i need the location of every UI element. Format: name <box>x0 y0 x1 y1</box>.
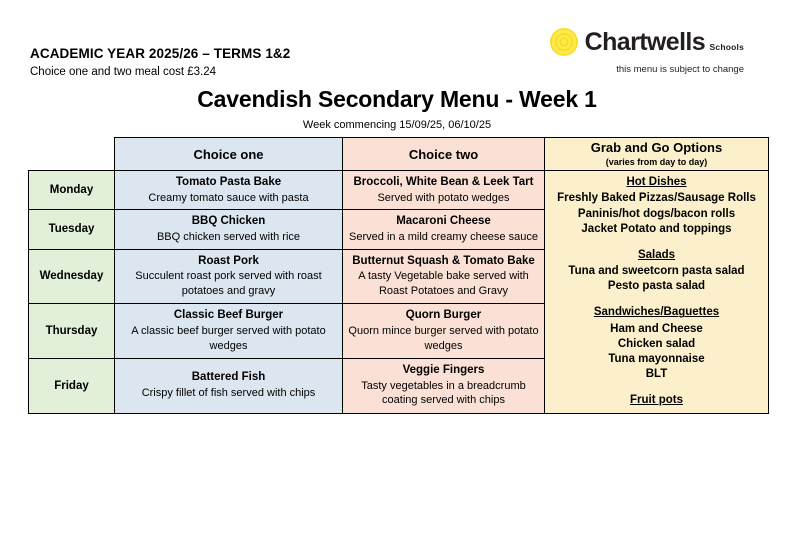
choice-one-friday: Battered Fish Crispy fillet of fish serv… <box>115 358 343 413</box>
academic-year-line: ACADEMIC YEAR 2025/26 – TERMS 1&2 <box>30 46 290 61</box>
dish-description: Served in a mild creamy cheese sauce <box>347 230 540 245</box>
header-choice-one: Choice one <box>115 138 343 171</box>
grab-item: Tuna and sweetcorn pasta salad <box>549 264 764 279</box>
grab-and-go-note: (varies from day to day) <box>549 157 764 167</box>
dish-description: A classic beef burger served with potato… <box>119 324 338 354</box>
header-blank-cell <box>29 138 115 171</box>
dish-name: Quorn Burger <box>347 308 540 324</box>
day-label-friday: Friday <box>29 358 115 413</box>
grab-group-salads: Salads Tuna and sweetcorn pasta salad Pe… <box>549 248 764 295</box>
grab-item: Ham and Cheese <box>549 322 764 337</box>
header-grab-and-go: Grab and Go Options (varies from day to … <box>545 138 769 171</box>
dish-description: A tasty Vegetable bake served with Roast… <box>347 269 540 299</box>
day-label-wednesday: Wednesday <box>29 249 115 304</box>
dish-name: Tomato Pasta Bake <box>119 175 338 191</box>
meal-cost-line: Choice one and two meal cost £3.24 <box>30 66 216 78</box>
grab-item: Chicken salad <box>549 337 764 352</box>
table-header-row: Choice one Choice two Grab and Go Option… <box>29 138 769 171</box>
grab-item: Jacket Potato and toppings <box>549 222 764 237</box>
grab-group-sandwiches: Sandwiches/Baguettes Ham and Cheese Chic… <box>549 305 764 382</box>
choice-two-wednesday: Butternut Squash & Tomato Bake A tasty V… <box>343 249 545 304</box>
grab-group-hot-dishes: Hot Dishes Freshly Baked Pizzas/Sausage … <box>549 175 764 237</box>
dish-description: Crispy fillet of fish served with chips <box>119 386 338 401</box>
dish-description: Quorn mince burger served with potato we… <box>347 324 540 354</box>
dish-name: Roast Pork <box>119 254 338 270</box>
choice-one-monday: Tomato Pasta Bake Creamy tomato sauce wi… <box>115 171 343 210</box>
choice-two-monday: Broccoli, White Bean & Leek Tart Served … <box>343 171 545 210</box>
dish-name: Macaroni Cheese <box>347 214 540 230</box>
page-header: ACADEMIC YEAR 2025/26 – TERMS 1&2 Choice… <box>0 0 794 80</box>
grab-heading: Hot Dishes <box>549 175 764 190</box>
choice-one-thursday: Classic Beef Burger A classic beef burge… <box>115 304 343 359</box>
grab-heading: Fruit pots <box>549 393 764 408</box>
dish-description: Succulent roast pork served with roast p… <box>119 269 338 299</box>
grab-item: BLT <box>549 367 764 382</box>
menu-table: Choice one Choice two Grab and Go Option… <box>28 137 769 414</box>
dish-name: Broccoli, White Bean & Leek Tart <box>347 175 540 191</box>
day-label-tuesday: Tuesday <box>29 210 115 249</box>
grab-item: Tuna mayonnaise <box>549 352 764 367</box>
logo-subbrand: Schools <box>710 42 744 52</box>
choice-one-tuesday: BBQ Chicken BBQ chicken served with rice <box>115 210 343 249</box>
page-title: Cavendish Secondary Menu - Week 1 <box>0 86 794 113</box>
dish-name: Veggie Fingers <box>347 363 540 379</box>
dish-name: BBQ Chicken <box>119 214 338 230</box>
dish-name: Classic Beef Burger <box>119 308 338 324</box>
header-choice-two: Choice two <box>343 138 545 171</box>
choice-two-tuesday: Macaroni Cheese Served in a mild creamy … <box>343 210 545 249</box>
day-label-thursday: Thursday <box>29 304 115 359</box>
grab-item: Pesto pasta salad <box>549 279 764 294</box>
dish-name: Butternut Squash & Tomato Bake <box>347 254 540 270</box>
table-row: Monday Tomato Pasta Bake Creamy tomato s… <box>29 171 769 210</box>
grab-and-go-cell: Hot Dishes Freshly Baked Pizzas/Sausage … <box>545 171 769 413</box>
grab-heading: Salads <box>549 248 764 263</box>
dish-description: Tasty vegetables in a breadcrumb coating… <box>347 379 540 409</box>
choice-two-thursday: Quorn Burger Quorn mince burger served w… <box>343 304 545 359</box>
grab-group-fruit-pots: Fruit pots <box>549 393 764 408</box>
chartwells-logo: Chartwells Schools this menu is subject … <box>550 28 744 75</box>
choice-two-friday: Veggie Fingers Tasty vegetables in a bre… <box>343 358 545 413</box>
dish-description: Served with potato wedges <box>347 191 540 206</box>
week-commencing: Week commencing 15/09/25, 06/10/25 <box>0 119 794 131</box>
chartwells-spiral-icon <box>550 28 578 56</box>
grab-heading: Sandwiches/Baguettes <box>549 305 764 320</box>
day-label-monday: Monday <box>29 171 115 210</box>
grab-item: Paninis/hot dogs/bacon rolls <box>549 207 764 222</box>
grab-and-go-title: Grab and Go Options <box>549 141 764 156</box>
choice-one-wednesday: Roast Pork Succulent roast pork served w… <box>115 249 343 304</box>
dish-name: Battered Fish <box>119 370 338 386</box>
dish-description: BBQ chicken served with rice <box>119 230 338 245</box>
logo-wordmark: Chartwells <box>585 28 705 56</box>
dish-description: Creamy tomato sauce with pasta <box>119 191 338 206</box>
grab-item: Freshly Baked Pizzas/Sausage Rolls <box>549 191 764 206</box>
menu-disclaimer: this menu is subject to change <box>550 64 744 75</box>
